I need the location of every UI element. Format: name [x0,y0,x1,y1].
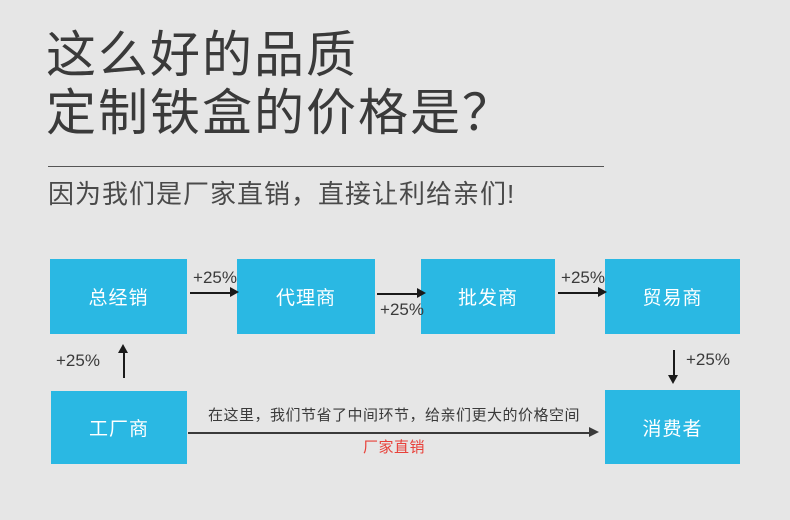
flow-node-dailishang: 代理商 [237,259,375,334]
flow-connector-1: +25% [190,268,240,299]
markup-percent-label-down: +25% [686,350,730,370]
title-divider [48,166,604,167]
arrow-head [598,287,607,297]
headline-line-2: 定制铁盒的价格是？ [46,84,746,142]
flow-node-gongchang: 工厂商 [51,391,187,464]
flow-connector-3: +25% [558,268,608,299]
arrow-right-icon [190,287,240,299]
arrow-shaft [558,292,600,294]
promo-banner: 这么好的品质 定制铁盒的价格是？ 因为我们是厂家直销，直接让利给亲们! 总经销 … [0,0,790,520]
arrow-down-icon [668,350,680,376]
flow-node-zongjingxiao: 总经销 [50,259,187,334]
flow-node-label: 批发商 [458,283,518,310]
direct-channel-badge: 厂家直销 [188,436,600,457]
page-title: 这么好的品质 定制铁盒的价格是？ [46,26,746,142]
arrow-up-icon [118,352,130,378]
flow-node-xiaofeizhe: 消费者 [605,390,740,464]
markup-percent-label: +25% [377,300,427,319]
arrow-right-icon [377,288,427,300]
arrow-head [417,288,426,298]
flow-node-label: 总经销 [88,283,148,310]
markup-percent-label-up: +25% [56,351,100,371]
markup-percent-label: +25% [190,268,240,287]
arrow-shaft [123,352,125,378]
arrow-shaft [377,293,419,295]
flow-node-label: 工厂商 [89,414,149,441]
subheadline: 因为我们是厂家直销，直接让利给亲们! [48,177,515,211]
arrow-shaft [190,292,232,294]
flow-node-label: 消费者 [642,414,702,441]
flow-node-label: 贸易商 [642,283,702,310]
arrow-head [118,344,128,353]
flow-node-label: 代理商 [276,283,336,310]
arrow-shaft [188,432,591,434]
arrow-shaft [673,350,675,376]
headline-line-1: 这么好的品质 [46,26,746,84]
flow-node-pifashang: 批发商 [421,259,555,334]
markup-percent-label: +25% [558,268,608,287]
flow-connector-2: +25% [377,288,427,319]
flow-node-maoyishang: 贸易商 [605,259,740,334]
arrow-right-icon [558,287,608,299]
arrow-head [230,287,239,297]
direct-channel-caption: 在这里，我们节省了中间环节，给亲们更大的价格空间 [188,404,600,425]
arrow-head [668,375,678,384]
